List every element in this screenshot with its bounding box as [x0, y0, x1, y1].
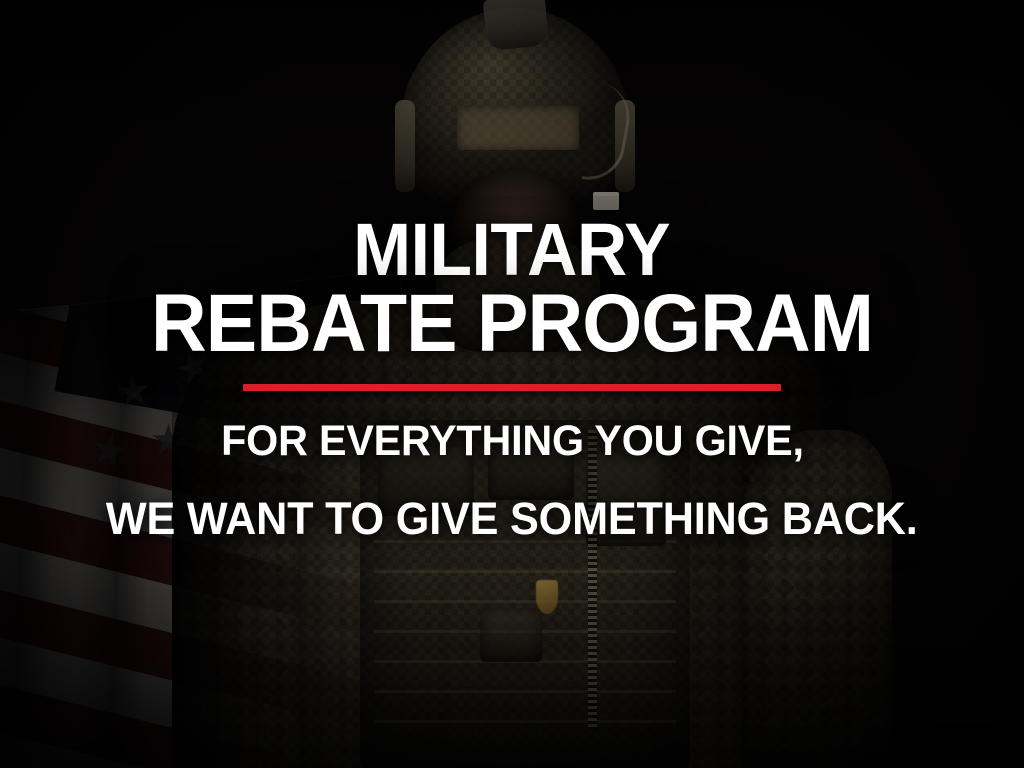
headline-line-1: MILITARY — [354, 214, 671, 285]
red-divider-rule — [243, 384, 781, 391]
subheadline-line-2: WE WANT TO GIVE SOMETHING BACK. — [106, 493, 918, 545]
text-overlay: MILITARY REBATE PROGRAM FOR EVERYTHING Y… — [0, 0, 1024, 768]
subheadline-line-1: FOR EVERYTHING YOU GIVE, — [221, 417, 804, 467]
promo-slide: MILITARY REBATE PROGRAM FOR EVERYTHING Y… — [0, 0, 1024, 768]
headline-line-2: REBATE PROGRAM — [151, 285, 873, 364]
